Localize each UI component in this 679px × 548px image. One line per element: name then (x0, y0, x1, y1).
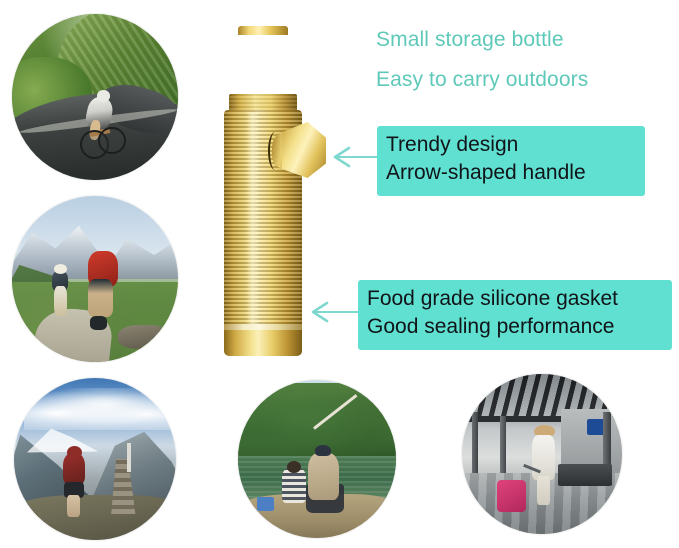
left-arrow-icon (330, 145, 380, 169)
trail-rocks (118, 325, 168, 348)
lifestyle-photo-cycling (12, 14, 178, 180)
lifestyle-photo-summit (14, 378, 176, 540)
traveler-legs (537, 476, 550, 505)
hiker-main-body (88, 279, 113, 317)
traveler-body (532, 435, 554, 480)
product-infographic: Small storage bottle Easy to carry outdo… (0, 0, 679, 548)
pink-suitcase (497, 480, 526, 512)
lifestyle-photo-fishing (238, 380, 396, 538)
bottle-cap-top (238, 26, 288, 35)
adult-cap (315, 445, 331, 456)
left-arrow-icon (308, 300, 362, 324)
blue-cooler (257, 497, 274, 511)
handle-slot (268, 132, 282, 170)
hiker-small-hat (54, 264, 67, 274)
callout-handle-line-1: Trendy design (386, 131, 636, 159)
callout-handle-line-2: Arrow-shaped handle (386, 159, 636, 187)
rocky-foreground (14, 495, 176, 540)
lifestyle-photo-travel (462, 374, 622, 534)
bottle-cap (232, 34, 294, 96)
bicycle-wheel-front (98, 127, 125, 154)
hiker-hood (67, 446, 82, 459)
bottle-highlight (246, 112, 259, 330)
platform-bench (558, 464, 612, 486)
hiker-legs (67, 495, 80, 518)
bottle-base (224, 330, 302, 356)
callout-trendy-design: Trendy design Arrow-shaped handle (377, 126, 645, 196)
adult-angler (308, 453, 340, 500)
callout-silicone-gasket: Food grade silicone gasket Good sealing … (358, 280, 672, 350)
cairn-pole (127, 443, 130, 472)
hiker-small-body (54, 286, 67, 316)
callout-gasket-line-1: Food grade silicone gasket (367, 285, 663, 313)
heading-small-storage-bottle: Small storage bottle (376, 28, 564, 52)
lifestyle-photo-hiking (12, 196, 178, 362)
clouds (24, 388, 170, 430)
hiker-main-boots (90, 316, 107, 331)
heading-easy-to-carry: Easy to carry outdoors (376, 68, 588, 92)
arrow-shaped-handle (282, 122, 326, 178)
child-angler (282, 468, 306, 503)
cyclist-helmet (97, 90, 110, 102)
callout-gasket-line-2: Good sealing performance (367, 313, 663, 341)
